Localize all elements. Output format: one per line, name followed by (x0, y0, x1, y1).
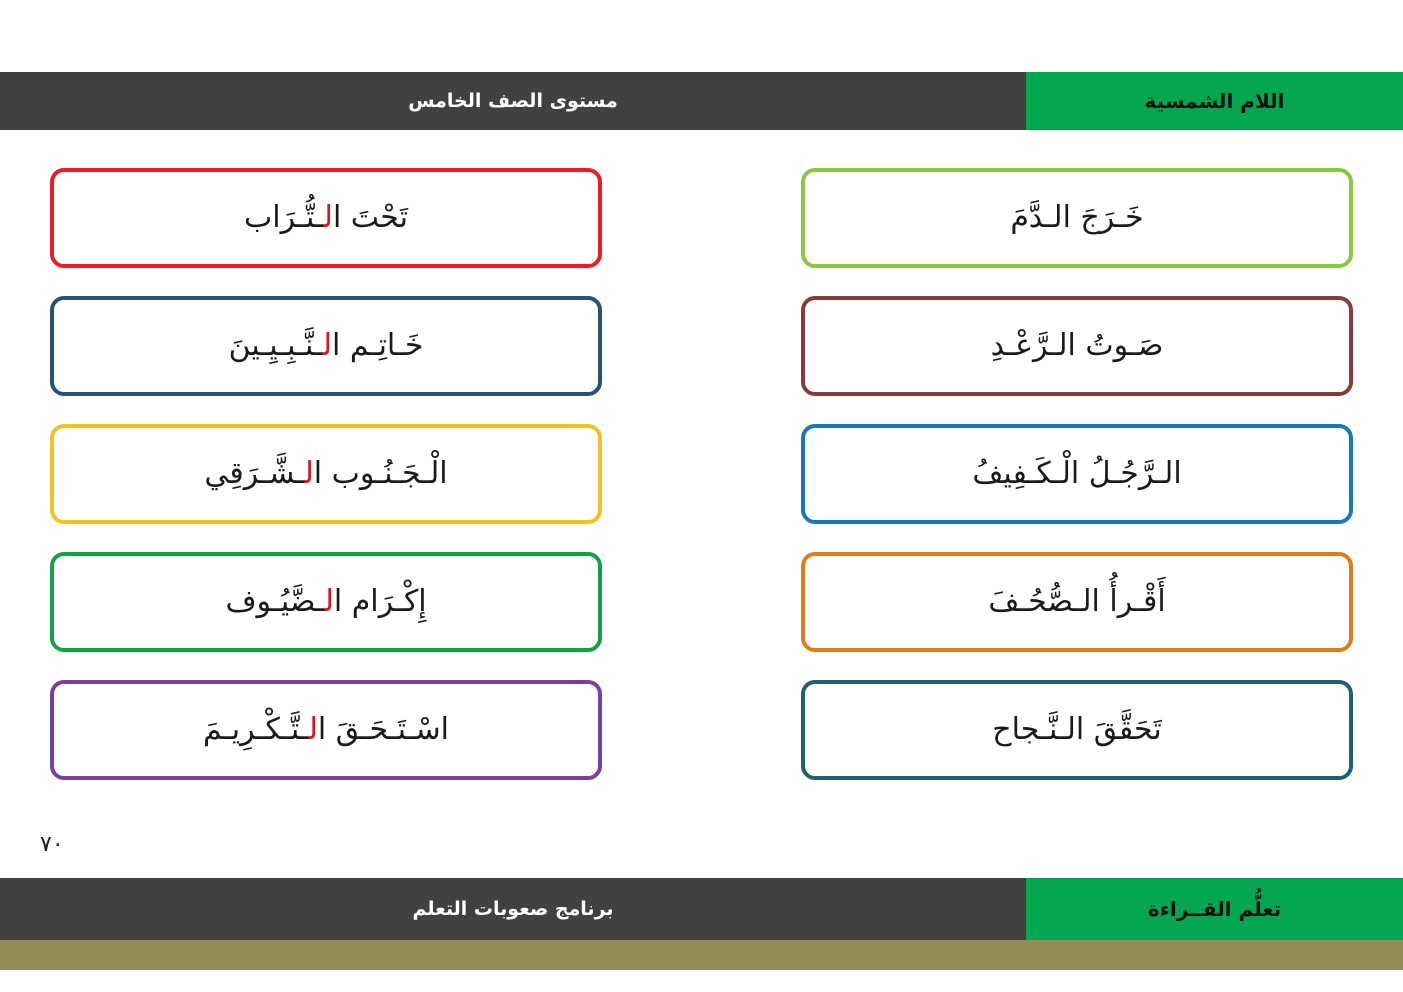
column-right: تَحْتَ الـتُّـرَابخَـاتِـم الـنَّـبِـيِـ… (50, 168, 602, 800)
sentence-prefix: اسْـتَـحَـقَ ا (318, 712, 449, 747)
sentence-suffix: ـتُّـرَاب (244, 200, 324, 235)
page-number: ٧٠ (40, 832, 64, 857)
sentence-card[interactable]: تَحَقَّقَ الـنَّـجاح (801, 680, 1353, 780)
highlighted-lam: ل (305, 456, 314, 491)
column-left: خَـرَجَ الـدَّمَصَـوتُ الـرَّعْـدِالـرَّ… (801, 168, 1353, 800)
sentence-suffix: ـضَّيُـوف (225, 584, 324, 619)
sentence-card[interactable]: خَـرَجَ الـدَّمَ (801, 168, 1353, 268)
highlighted-lam: ل (325, 584, 334, 619)
page-header: اللام الشمسية مستوى الصف الخامس (0, 72, 1403, 130)
sentence-text: خَـرَجَ الـدَّمَ (1010, 198, 1143, 239)
program-name-label: برنامج صعوبات التعلم (0, 878, 1026, 940)
sentence-text: صَـوتُ الـرَّعْـدِ (991, 326, 1164, 367)
card-board: تَحْتَ الـتُّـرَابخَـاتِـم الـنَّـبِـيِـ… (0, 168, 1403, 800)
sentence-prefix: خَـاتِـم ا (332, 328, 423, 363)
worksheet-page: اللام الشمسية مستوى الصف الخامس تَحْتَ ا… (0, 0, 1403, 992)
sentence-suffix: ـشَّـرَقِي (204, 456, 304, 491)
highlighted-lam: ل (309, 712, 318, 747)
sentence-text: إِكْـرَام الـضَّيُـوف (225, 582, 426, 623)
highlighted-lam: ل (323, 328, 332, 363)
lesson-title: اللام الشمسية (1026, 72, 1403, 130)
program-brand-label: تعلُّم القــراءة (1026, 878, 1403, 940)
grade-level-label: مستوى الصف الخامس (0, 72, 1026, 130)
sentence-card[interactable]: تَحْتَ الـتُّـرَاب (50, 168, 602, 268)
sentence-prefix: تَحْتَ ا (333, 200, 408, 235)
highlighted-lam: ل (324, 200, 333, 235)
sentence-text: اسْـتَـحَـقَ الـتَّـكْـرِيـمَ (203, 710, 449, 751)
sentence-text: خَـاتِـم الـنَّـبِـيِـينَ (229, 326, 424, 367)
sentence-card[interactable]: أَقْـرأُ الـصُّحُـفَ (801, 552, 1353, 652)
sentence-suffix: ـتَّـكْـرِيـمَ (203, 712, 309, 747)
sentence-suffix: ـنَّـبِـيِـينَ (229, 328, 323, 363)
sentence-text: الـرَّجُـلُ الْـكَـفِيفُ (972, 454, 1181, 495)
sentence-prefix: الْـجَـنُـوب ا (314, 456, 448, 491)
sentence-card[interactable]: اسْـتَـحَـقَ الـتَّـكْـرِيـمَ (50, 680, 602, 780)
sentence-card[interactable]: صَـوتُ الـرَّعْـدِ (801, 296, 1353, 396)
sentence-card[interactable]: الْـجَـنُـوب الـشَّـرَقِي (50, 424, 602, 524)
footer-accent-bar (0, 940, 1403, 970)
sentence-card[interactable]: إِكْـرَام الـضَّيُـوف (50, 552, 602, 652)
page-footer: تعلُّم القــراءة برنامج صعوبات التعلم (0, 878, 1403, 940)
sentence-prefix: إِكْـرَام ا (334, 584, 427, 619)
sentence-text: الْـجَـنُـوب الـشَّـرَقِي (204, 454, 447, 495)
sentence-text: تَحَقَّقَ الـنَّـجاح (992, 710, 1161, 751)
sentence-card[interactable]: الـرَّجُـلُ الْـكَـفِيفُ (801, 424, 1353, 524)
sentence-card[interactable]: خَـاتِـم الـنَّـبِـيِـينَ (50, 296, 602, 396)
sentence-text: تَحْتَ الـتُّـرَاب (244, 198, 408, 239)
sentence-text: أَقْـرأُ الـصُّحُـفَ (988, 582, 1165, 623)
